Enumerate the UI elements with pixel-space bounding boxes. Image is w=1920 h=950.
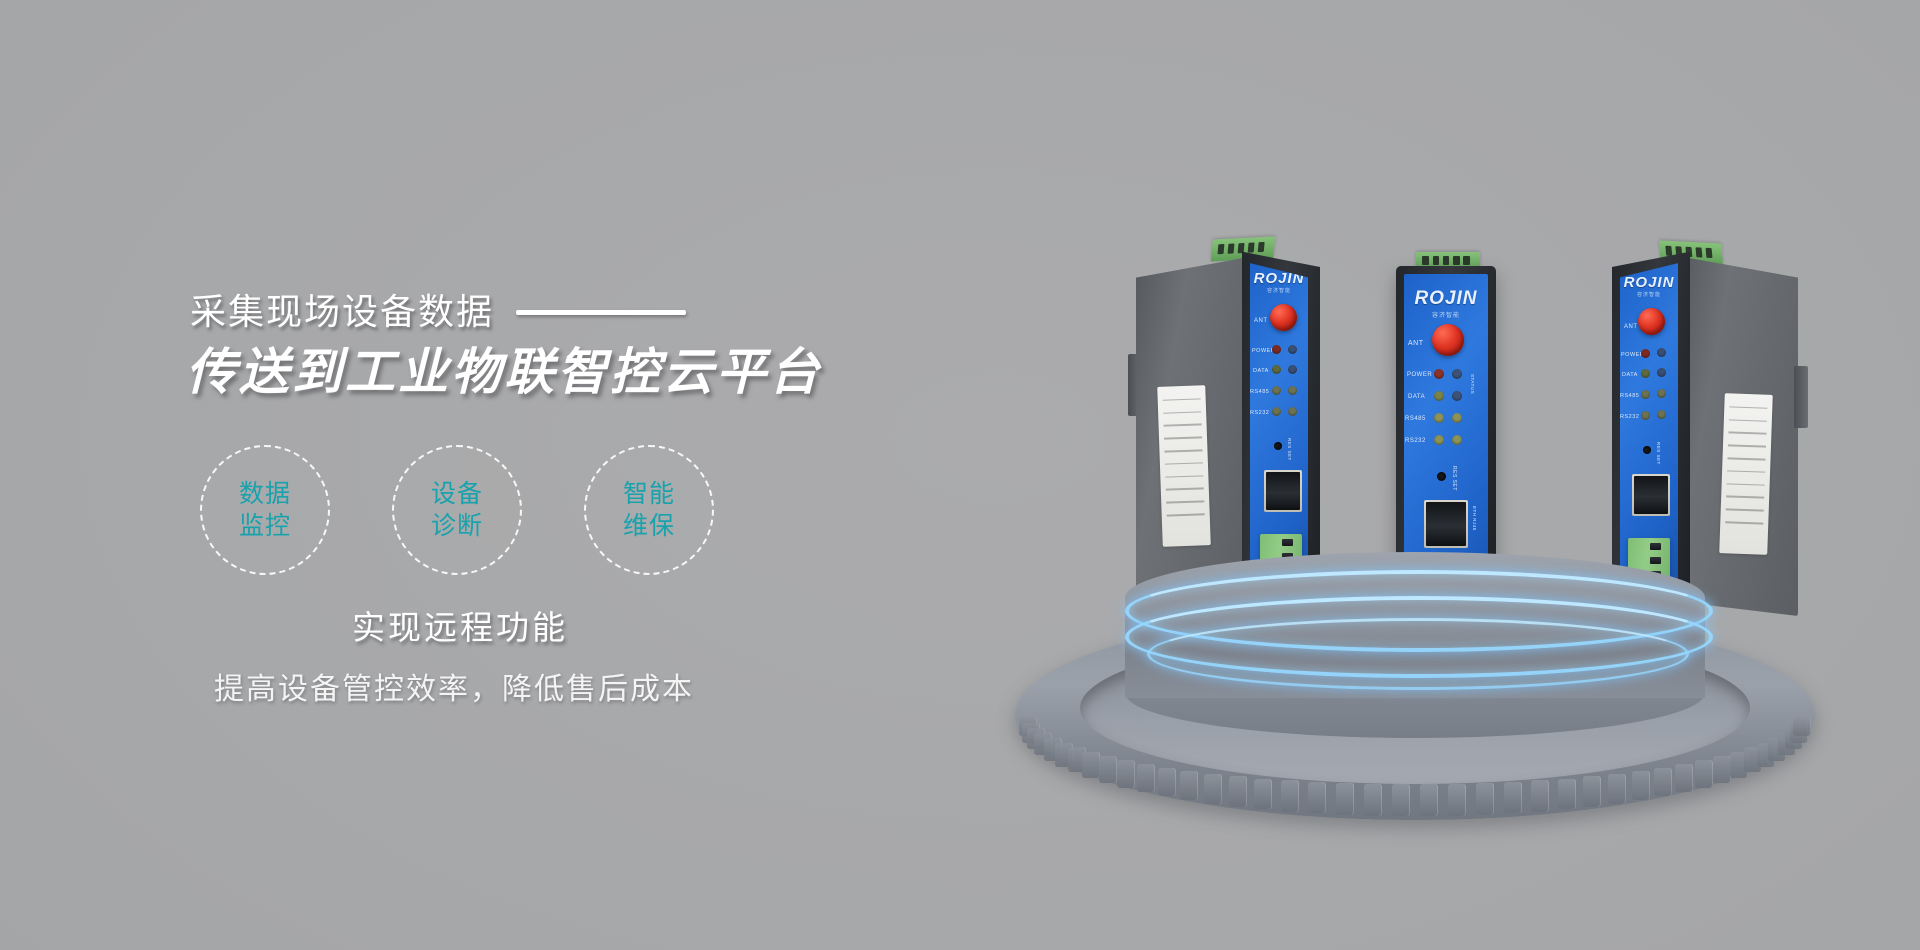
podium-tooth [1392,784,1410,816]
podium-tooth [1654,768,1672,797]
eyebrow-row: 采集现场设备数据 [190,294,686,330]
led-power-b-left [1288,345,1297,354]
feature-circle-data-monitoring[interactable]: 数据 监控 [200,445,330,575]
reset-button-left[interactable] [1274,442,1282,450]
led-rs485-b-center [1452,413,1462,423]
led-rs232-b-right [1657,410,1666,419]
led-power-b-center [1452,369,1462,379]
label-rs232-left: RS232 [1250,410,1269,416]
din-rail-clip-right [1794,366,1808,428]
led-data-a-center [1434,391,1444,401]
podium-tooth [1531,780,1549,811]
podium-tooth [1476,783,1494,815]
podium-tooth [1281,780,1299,811]
podium-tooth [1608,774,1626,804]
led-power-a-left [1272,345,1281,354]
display-podium [960,540,1920,840]
led-power-a-right [1641,349,1650,358]
brand-logo-right: ROJIN [1624,274,1675,291]
podium-tooth [1420,784,1438,816]
podium-tooth [1082,752,1100,778]
led-rs232-b-left [1288,407,1297,416]
led-data-b-left [1288,365,1297,374]
antenna-cap-right[interactable] [1638,308,1665,335]
led-rs485-a-left [1272,386,1281,395]
podium-tooth [1308,782,1326,814]
label-rs485-left: RS485 [1250,389,1269,395]
ethernet-port-right[interactable] [1632,474,1670,516]
led-rs485-a-right [1641,390,1650,399]
label-ant-right: ANT [1624,324,1638,330]
feature-circle-line2: 诊断 [431,510,483,542]
podium-tooth [1583,776,1601,806]
podium-tooth [1336,783,1354,815]
spec-label-left [1157,385,1211,547]
podium-tooth [1675,764,1693,792]
feature-circle-line2: 监控 [239,510,291,542]
podium-tooth [1364,784,1382,816]
podium-dais [1125,552,1705,727]
led-rs232-a-right [1641,411,1650,420]
led-rs485-a-center [1434,413,1444,423]
label-ant-left: ANT [1254,318,1268,324]
label-ethernet-center: ETH RJ45 [1472,506,1477,531]
label-data-left: DATA [1253,368,1269,374]
spec-label-right [1719,393,1773,555]
led-rs485-b-left [1288,386,1297,395]
feature-circle-line1: 设备 [431,478,483,510]
label-rs232-right: RS232 [1620,414,1639,420]
reset-button-right[interactable] [1643,446,1651,454]
podium-tooth [1558,779,1576,810]
led-rs232-a-center [1434,435,1444,445]
ethernet-port-left[interactable] [1264,470,1302,512]
podium-tooth [1793,717,1811,736]
mid-headline: 实现远程功能 [352,611,568,644]
label-status-center: STATUS [1470,374,1475,394]
banner-root: 采集现场设备数据 传送到工业物联智控云平台 数据 监控 设备 诊断 智能 维保 … [0,0,1920,950]
podium-tooth [1204,774,1222,804]
feature-circle-group: 数据 监控 设备 诊断 智能 维保 [200,445,714,575]
podium-tooth [1695,760,1713,787]
label-ant-center: ANT [1408,340,1424,347]
label-power-center: POWER [1407,372,1432,378]
feature-circle-line1: 数据 [239,478,291,510]
podium-tooth [1254,779,1272,810]
podium-tooth [1504,782,1522,814]
label-rs485-right: RS485 [1620,393,1639,399]
label-data-center: DATA [1408,394,1425,400]
sub-headline: 提高设备管控效率，降低售后成本 [214,675,694,705]
antenna-cap-left[interactable] [1270,304,1297,331]
led-data-b-center [1452,391,1462,401]
label-rs485-center: RS485 [1405,416,1426,422]
podium-tooth [1632,771,1650,800]
page-title: 传送到工业物联智控云平台 [186,344,822,400]
product-scene: ROJIN 容济智能 ANT POWER DATA RS485 RS232 [960,190,1920,850]
label-reset-right: RES SET [1656,442,1661,465]
led-data-b-right [1657,368,1666,377]
brand-subtitle-right: 容济智能 [1637,291,1661,298]
led-rs485-b-right [1657,389,1666,398]
podium-glow-ring-3 [1147,618,1689,690]
brand-logo-center: ROJIN [1414,288,1477,310]
podium-tooth [1117,760,1135,787]
brand-subtitle-left: 容济智能 [1267,287,1291,294]
led-power-a-center [1434,369,1444,379]
eyebrow-text: 采集现场设备数据 [190,294,494,330]
reset-button-center[interactable] [1437,472,1446,481]
brand-subtitle-center: 容济智能 [1432,310,1460,319]
feature-circle-line2: 维保 [623,510,675,542]
led-rs232-b-center [1452,435,1462,445]
feature-circle-line1: 智能 [623,478,675,510]
copy-block: 采集现场设备数据 传送到工业物联智控云平台 数据 监控 设备 诊断 智能 维保 … [0,0,900,950]
podium-tooth [1713,756,1731,783]
podium-tooth [1180,771,1198,800]
eyebrow-divider-rule [516,310,686,315]
podium-tooth [1448,784,1466,816]
antenna-cap-center[interactable] [1432,324,1464,356]
led-power-b-right [1657,348,1666,357]
podium-tooth [1099,756,1117,783]
led-rs232-a-left [1272,407,1281,416]
feature-circle-device-diagnosis[interactable]: 设备 诊断 [392,445,522,575]
label-reset-center: RES SET [1451,466,1457,491]
led-data-a-left [1272,365,1281,374]
label-rs232-center: RS232 [1405,438,1426,444]
label-data-right: DATA [1622,372,1638,378]
feature-circle-smart-maintenance[interactable]: 智能 维保 [584,445,714,575]
led-data-a-right [1641,369,1650,378]
podium-tooth [1158,768,1176,797]
podium-tooth [1229,776,1247,806]
podium-tooth [1137,764,1155,792]
label-reset-left: RES SET [1287,438,1292,461]
